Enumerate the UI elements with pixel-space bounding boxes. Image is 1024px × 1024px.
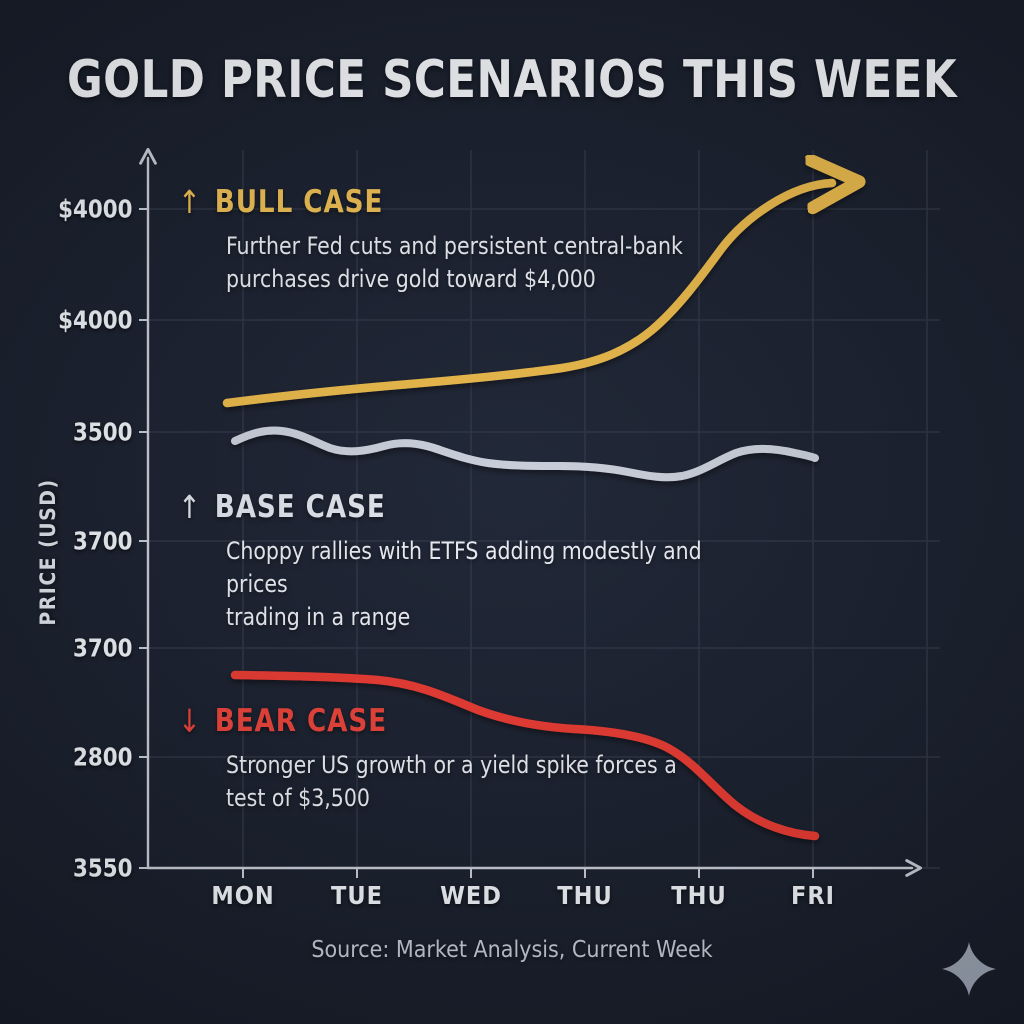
x-tick-label-tue: TUE [297, 881, 417, 910]
y-tick-label: 3550 [38, 854, 133, 883]
y-tick-label: 3700 [38, 527, 133, 556]
sparkle-icon [938, 938, 1000, 1000]
arrow-down-icon: ↓ [178, 705, 202, 737]
series-line-base [235, 430, 815, 477]
arrow-up-icon: ↑ [178, 491, 202, 523]
annotation-bull-label: BULL CASE [215, 184, 384, 220]
x-axis-ticks [243, 868, 813, 878]
y-tick-label: 2800 [38, 743, 133, 772]
annotation-bear-label: BEAR CASE [215, 703, 387, 739]
page-title: GOLD PRICE SCENARIOS THIS WEEK [36, 50, 988, 110]
y-axis-ticks [139, 209, 148, 868]
annotation-bull-case: ↑ BULL CASE Further Fed cuts and persist… [178, 184, 707, 296]
y-tick-label: 3700 [38, 634, 133, 663]
x-tick-label-wed: WED [411, 881, 531, 910]
annotation-bull-body: Further Fed cuts and persistent central-… [226, 230, 683, 296]
infographic-canvas: GOLD PRICE SCENARIOS THIS WEEK PRICE (US… [0, 0, 1024, 1024]
annotation-base-label: BASE CASE [215, 489, 386, 525]
annotation-base-case: ↑ BASE CASE Choppy rallies with ETFS add… [178, 489, 746, 634]
x-tick-label-thu-2: THU [639, 881, 759, 910]
x-tick-label-mon: MON [183, 881, 303, 910]
y-tick-label: 3500 [38, 418, 133, 447]
x-tick-label-fri: FRI [753, 881, 873, 910]
annotation-base-body: Choppy rallies with ETFS adding modestly… [226, 535, 720, 634]
arrow-up-icon: ↑ [178, 186, 202, 218]
y-tick-label: $4000 [38, 195, 133, 224]
y-tick-label: $4000 [38, 306, 133, 335]
annotation-bear-case: ↓ BEAR CASE Stronger US growth or a yiel… [178, 703, 700, 815]
annotation-bear-body: Stronger US growth or a yield spike forc… [226, 749, 677, 815]
y-axis-tick-labels: $4000 $4000 3500 3700 3700 2800 3550 [30, 0, 135, 1024]
source-caption: Source: Market Analysis, Current Week [0, 937, 1024, 963]
x-tick-label-thu: THU [525, 881, 645, 910]
